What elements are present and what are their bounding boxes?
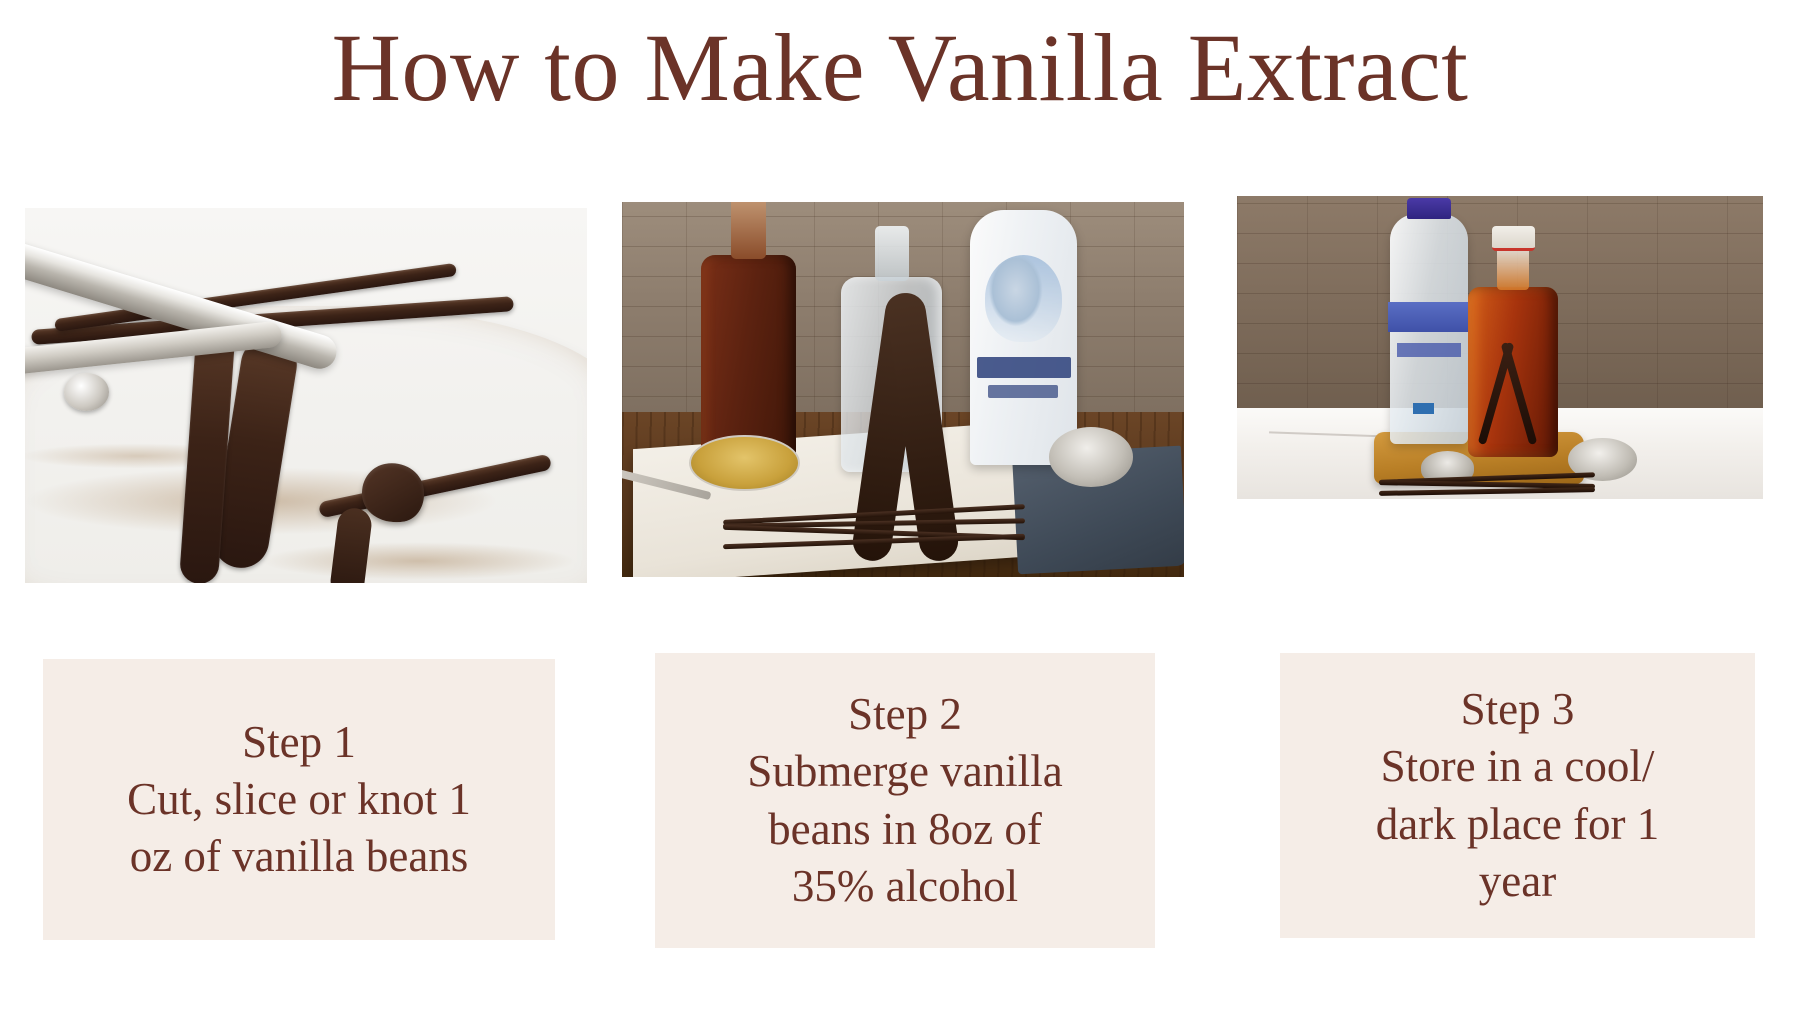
bottles-and-vodka-scene (622, 202, 1184, 577)
step-1-caption: Step 1 Cut, slice or knot 1 oz of vanill… (43, 659, 555, 940)
bottle-neck (1497, 246, 1529, 290)
vanilla-bean (723, 534, 1025, 549)
step-1-photo (25, 208, 587, 583)
step-text-line: dark place for 1 (1376, 796, 1660, 853)
step-text-line: Cut, slice or knot 1 (127, 771, 471, 828)
goose-illustration (985, 255, 1062, 342)
step-text-line: year (1479, 853, 1556, 910)
step-text-line: Submerge vanilla (747, 743, 1062, 800)
step-2-caption: Step 2 Submerge vanilla beans in 8oz of … (655, 653, 1155, 948)
step-heading: Step 1 (242, 714, 356, 771)
step-heading: Step 2 (848, 686, 962, 743)
mesh-strainer (689, 435, 800, 492)
bottle-neck (875, 226, 909, 281)
finished-extract-scene (1237, 196, 1763, 499)
vanilla-bean (1379, 487, 1596, 496)
bottle-brand-subband (988, 385, 1058, 398)
step-3-photo (1237, 196, 1763, 499)
grey-goose-vodka-bottle (970, 210, 1077, 465)
bottle-brand-band (977, 357, 1071, 377)
step-text-line: beans in 8oz of (768, 801, 1042, 858)
step-2-photo (622, 202, 1184, 577)
step-text-line: 35% alcohol (792, 858, 1018, 915)
bottle-neck (731, 202, 765, 259)
vanilla-bean-cutting-scene (25, 208, 587, 583)
step-text-line: oz of vanilla beans (130, 828, 469, 885)
scissors-pivot-screw (64, 373, 109, 411)
svedka-vodka-bottle (1390, 214, 1469, 444)
metal-funnel (1049, 427, 1133, 487)
bottle-label (1388, 302, 1470, 332)
vanilla-bean-in-bottle (1501, 342, 1538, 445)
step-text-line: Store in a cool/ (1381, 738, 1655, 795)
swing-top-cap (1492, 226, 1535, 251)
step-heading: Step 3 (1461, 681, 1575, 738)
page-title: How to Make Vanilla Extract (0, 18, 1800, 119)
step-3-caption: Step 3 Store in a cool/ dark place for 1… (1280, 653, 1755, 938)
bottle-sublabel (1397, 343, 1460, 357)
bottle-cap (1407, 198, 1451, 219)
finished-extract-bottle (1468, 287, 1557, 457)
swedish-flag-badge (1413, 403, 1434, 415)
vanilla-beans-group (1379, 475, 1600, 496)
vanilla-beans-group (723, 510, 1038, 555)
